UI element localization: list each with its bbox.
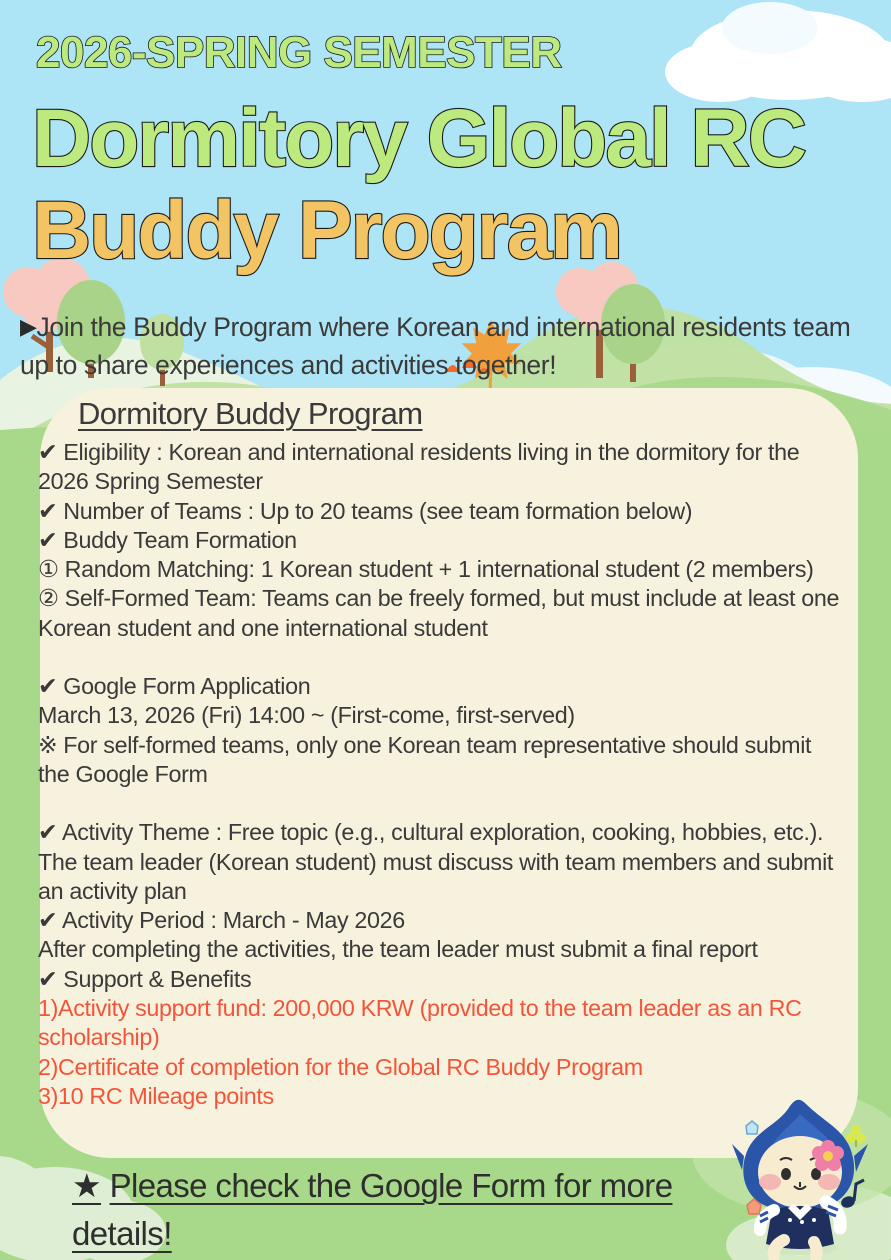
cta-text: Please check the Google Form for more de…	[72, 1167, 672, 1252]
panel-line: After completing the activities, the tea…	[38, 935, 844, 964]
poster-root: 2026-SPRING SEMESTER Dormitory Global RC…	[0, 0, 891, 1260]
panel-line: March 13, 2026 (Fri) 14:00 ~ (First-come…	[38, 701, 844, 730]
kicker-text: 2026-SPRING SEMESTER	[36, 28, 562, 78]
title-line-1: Dormitory Global RC	[32, 98, 805, 180]
panel-line: ✔ Google Form Application	[38, 672, 844, 701]
panel-line: ✔ Activity Theme : Free topic (e.g., cul…	[38, 818, 844, 906]
mascot-character-icon	[728, 1098, 888, 1260]
panel-spacer	[38, 643, 844, 672]
clover-icon	[846, 1125, 866, 1147]
panel-line: ※ For self-formed teams, only one Korean…	[38, 731, 844, 790]
subtitle-block: ▶Join the Buddy Program where Korean and…	[20, 308, 880, 385]
panel-spacer	[38, 789, 844, 818]
panel-body: ✔ Eligibility : Korean and international…	[38, 438, 844, 1111]
panel-line: ① Random Matching: 1 Korean student + 1 …	[38, 555, 844, 584]
cta-block: ★ Please check the Google Form for more …	[72, 1162, 762, 1258]
panel-line: ② Self-Formed Team: Teams can be freely …	[38, 584, 844, 643]
sparkle-blue-icon	[746, 1121, 758, 1134]
panel-line: ✔ Support & Benefits	[38, 965, 844, 994]
triangle-bullet-icon: ▶	[20, 311, 37, 343]
panel-line: ✔ Number of Teams : Up to 20 teams (see …	[38, 497, 844, 526]
panel-line: ✔ Buddy Team Formation	[38, 526, 844, 555]
benefit-line: 2)Certificate of completion for the Glob…	[38, 1053, 844, 1082]
benefit-line: 1)Activity support fund: 200,000 KRW (pr…	[38, 994, 844, 1053]
benefit-line: 3)10 RC Mileage points	[38, 1082, 844, 1111]
title-line-2: Buddy Program	[32, 190, 621, 272]
panel-heading: Dormitory Buddy Program	[78, 396, 423, 432]
star-icon: ★	[72, 1167, 101, 1204]
subtitle-text: Join the Buddy Program where Korean and …	[20, 312, 850, 380]
panel-line: ✔ Activity Period : March - May 2026	[38, 906, 844, 935]
panel-line: ✔ Eligibility : Korean and international…	[38, 438, 844, 497]
